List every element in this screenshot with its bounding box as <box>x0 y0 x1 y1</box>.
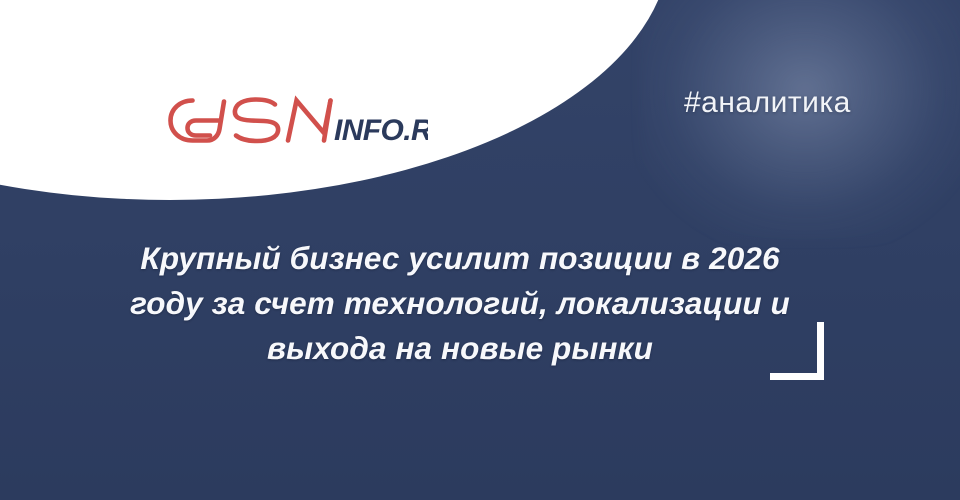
corner-bracket-vertical <box>817 322 824 380</box>
logo-asn-letters <box>171 100 331 142</box>
hashtag-label[interactable]: #аналитика <box>684 86 851 120</box>
headline-line-1: Крупный бизнес усилит позиции в 2026 <box>80 236 840 281</box>
asninfo-logo-graphic: INFO.RU <box>158 88 428 150</box>
headline-line-2: году за счет технологий, локализации и <box>80 281 840 326</box>
news-banner: INFO.RU #аналитика Крупный бизнес усилит… <box>0 0 960 500</box>
logo-infodotru-text: INFO.RU <box>334 114 428 147</box>
corner-bracket-horizontal <box>770 373 824 380</box>
headline: Крупный бизнес усилит позиции в 2026 год… <box>80 236 840 371</box>
headline-line-3: выхода на новые рынки <box>80 326 840 371</box>
asninfo-logo[interactable]: INFO.RU <box>158 88 428 150</box>
corner-bracket-icon <box>770 322 824 380</box>
